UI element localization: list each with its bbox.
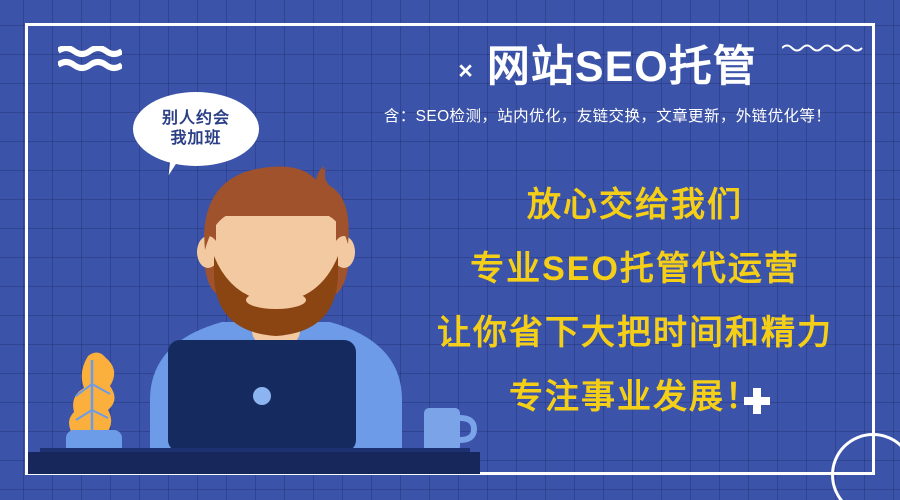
character-mouth: [246, 291, 306, 309]
desk-plant: [66, 352, 122, 456]
desk: [28, 452, 480, 474]
seo-poster: × 网站SEO托管 含：SEO检测，站内优化，友链交换，文章更新，外链优化等！ …: [0, 0, 900, 500]
coffee-mug: [424, 408, 474, 452]
speech-bubble: 别人约会 我加班: [133, 92, 259, 166]
illustration-scene: [0, 0, 900, 500]
speech-bubble-line-2: 我加班: [170, 129, 221, 149]
laptop-logo-icon: [253, 387, 271, 405]
speech-bubble-line-1: 别人约会: [162, 109, 230, 129]
